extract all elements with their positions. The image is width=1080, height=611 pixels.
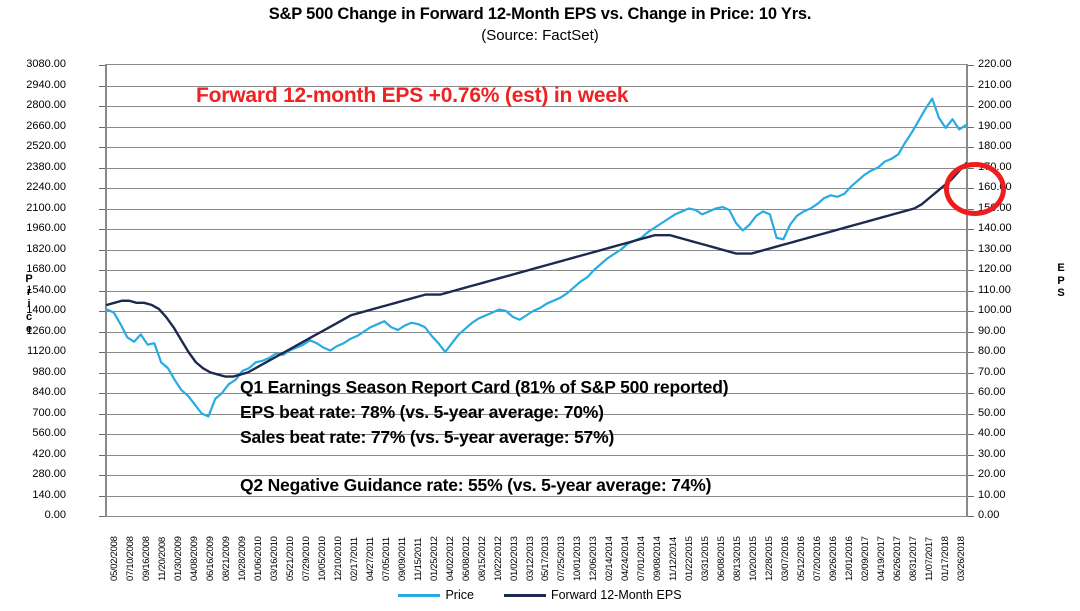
legend-item[interactable]: Forward 12-Month EPS	[504, 588, 682, 602]
y-axis-left-tick-label: 1680.00	[26, 264, 66, 275]
legend-label: Forward 12-Month EPS	[551, 588, 682, 602]
y-axis-right-tick-label: 70.00	[978, 367, 1006, 378]
y-axis-left-tick-label: 2940.00	[26, 80, 66, 91]
y-axis-right-tick-mark	[968, 229, 974, 230]
y-axis-right-tick-label: 10.00	[978, 490, 1006, 501]
y-axis-left-tick-label: 2660.00	[26, 121, 66, 132]
plot-area	[105, 64, 968, 517]
x-axis-tick-label: 09/16/2008	[141, 519, 152, 581]
y-axis-title-right: EPS	[1054, 262, 1068, 300]
annotation-red-headline: Forward 12-month EPS +0.76% (est) in wee…	[196, 84, 628, 108]
x-axis-tick-label: 08/31/2017	[908, 519, 919, 581]
y-axis-right-tick-label: 90.00	[978, 326, 1006, 337]
y-axis-right-tick-mark	[968, 393, 974, 394]
y-axis-right-tick-mark	[968, 352, 974, 353]
x-axis-tick-label: 12/01/2016	[844, 519, 855, 581]
y-axis-right-tick-label: 110.00	[978, 285, 1011, 296]
x-axis-tick-label: 08/21/2009	[221, 519, 232, 581]
y-axis-right-tick-label: 20.00	[978, 469, 1006, 480]
annotation-report-card: Q1 Earnings Season Report Card (81% of S…	[240, 377, 728, 398]
x-axis-tick-label: 07/29/2010	[301, 519, 312, 581]
y-axis-left-tick-label: 3080.00	[26, 59, 66, 70]
x-axis-tick-label: 03/26/2018	[956, 519, 967, 581]
x-axis-tick-label: 04/27/2011	[365, 519, 376, 581]
x-axis-ticks: 05/02/200807/10/200809/16/200811/20/2008…	[105, 519, 968, 583]
x-axis-tick-label: 01/25/2012	[429, 519, 440, 581]
y-axis-right-tick-mark	[968, 270, 974, 271]
x-axis-tick-label: 12/10/2010	[333, 519, 344, 581]
x-axis-tick-label: 09/09/2011	[397, 519, 408, 581]
y-axis-left-tick-label: 2800.00	[26, 100, 66, 111]
x-axis-tick-label: 09/26/2016	[828, 519, 839, 581]
y-axis-right-tick-mark	[968, 455, 974, 456]
x-axis-tick-label: 02/17/2011	[349, 519, 360, 581]
x-axis-tick-label: 10/22/2012	[493, 519, 504, 581]
x-axis-tick-label: 12/28/2015	[764, 519, 775, 581]
x-axis-tick-label: 05/02/2008	[109, 519, 120, 581]
y-axis-right-tick-label: 210.00	[978, 80, 1012, 91]
y-axis-right-tick-label: 140.00	[978, 223, 1012, 234]
y-axis-left-tick-label: 700.00	[32, 408, 66, 419]
y-axis-right-tick-label: 100.00	[978, 305, 1012, 316]
y-axis-right-tick-mark	[968, 434, 974, 435]
x-axis-tick-label: 03/31/2015	[700, 519, 711, 581]
y-axis-right-tick-label: 220.00	[978, 59, 1012, 70]
highlight-circle-icon	[944, 162, 1006, 216]
legend-swatch-icon	[504, 594, 546, 597]
x-axis-tick-label: 01/06/2010	[253, 519, 264, 581]
y-axis-left-tick-label: 2380.00	[26, 162, 66, 173]
y-axis-right-tick-label: 120.00	[978, 264, 1012, 275]
y-axis-left-tick-label: 420.00	[32, 449, 66, 460]
x-axis-tick-label: 10/01/2013	[572, 519, 583, 581]
x-axis-tick-label: 09/08/2014	[652, 519, 663, 581]
data-series-layer	[107, 65, 966, 516]
axis-title-char: E	[1054, 262, 1068, 275]
annotation-negative-guidance-rate: Q2 Negative Guidance rate: 55% (vs. 5-ye…	[240, 475, 711, 496]
x-axis-tick-label: 06/08/2012	[461, 519, 472, 581]
y-axis-right-tick-mark	[968, 127, 974, 128]
y-axis-right-tick-mark	[968, 250, 974, 251]
y-axis-left-tick-label: 2240.00	[26, 182, 66, 193]
y-axis-right-tick-mark	[968, 86, 974, 87]
x-axis-tick-label: 11/20/2008	[157, 519, 168, 581]
y-axis-right-tick-mark	[968, 106, 974, 107]
y-axis-left-tick-label: 560.00	[32, 428, 66, 439]
y-axis-right-tick-mark	[968, 65, 974, 66]
x-axis-tick-label: 08/15/2012	[477, 519, 488, 581]
x-axis-tick-label: 08/13/2015	[732, 519, 743, 581]
x-axis-tick-label: 01/02/2013	[509, 519, 520, 581]
x-axis-tick-label: 06/26/2017	[892, 519, 903, 581]
x-axis-tick-label: 06/16/2009	[205, 519, 216, 581]
y-axis-left-tick-label: 1960.00	[26, 223, 66, 234]
y-axis-right-tick-mark	[968, 311, 974, 312]
x-axis-tick-label: 11/12/2014	[668, 519, 679, 581]
x-axis-tick-label: 11/07/2017	[924, 519, 935, 581]
y-axis-right-tick-label: 200.00	[978, 100, 1012, 111]
series-line-forward-12-month-eps	[107, 163, 966, 376]
x-axis-tick-label: 01/22/2015	[684, 519, 695, 581]
legend-swatch-icon	[398, 594, 440, 597]
x-axis-tick-label: 07/10/2008	[125, 519, 136, 581]
x-axis-tick-label: 04/02/2012	[445, 519, 456, 581]
y-axis-right-tick-mark	[968, 414, 974, 415]
y-axis-left-tick-label: 280.00	[32, 469, 66, 480]
y-axis-right-tick-label: 30.00	[978, 449, 1006, 460]
y-axis-right-tick-label: 190.00	[978, 121, 1012, 132]
y-axis-left-tick-label: 980.00	[32, 367, 66, 378]
chart-header: S&P 500 Change in Forward 12-Month EPS v…	[0, 4, 1080, 46]
chart-legend: PriceForward 12-Month EPS	[0, 588, 1080, 602]
y-axis-right-tick-label: 130.00	[978, 244, 1012, 255]
y-axis-right-tick-mark	[968, 373, 974, 374]
y-axis-left-tick-label: 0.00	[45, 510, 66, 521]
x-axis-tick-label: 02/09/2017	[860, 519, 871, 581]
y-axis-right-tick-mark	[968, 332, 974, 333]
y-axis-right-tick-label: 60.00	[978, 387, 1006, 398]
x-axis-tick-label: 04/24/2014	[620, 519, 631, 581]
y-axis-right-tick-mark	[968, 475, 974, 476]
y-axis-left-tick-label: 1260.00	[26, 326, 66, 337]
x-axis-tick-label: 07/20/2016	[812, 519, 823, 581]
page-title: S&P 500 Change in Forward 12-Month EPS v…	[0, 4, 1080, 24]
x-axis-tick-label: 04/19/2017	[876, 519, 887, 581]
y-axis-left-tick-label: 2520.00	[26, 141, 66, 152]
y-axis-left-tick-label: 1400.00	[26, 305, 66, 316]
series-line-price	[107, 99, 966, 417]
x-axis-tick-label: 02/14/2014	[604, 519, 615, 581]
annotation-sales-beat-rate: Sales beat rate: 77% (vs. 5-year average…	[240, 427, 614, 448]
x-axis-tick-label: 07/01/2014	[636, 519, 647, 581]
y-axis-left-tick-label: 1820.00	[26, 244, 66, 255]
y-axis-right-tick-mark	[968, 496, 974, 497]
x-axis-tick-label: 07/05/2011	[381, 519, 392, 581]
y-axis-right-tick-mark	[968, 516, 974, 517]
y-axis-right-tick-mark	[968, 147, 974, 148]
x-axis-tick-label: 03/12/2013	[525, 519, 536, 581]
y-axis-right-tick-mark	[968, 291, 974, 292]
chart-subtitle: (Source: FactSet)	[0, 26, 1080, 46]
x-axis-tick-label: 11/15/2011	[413, 519, 424, 581]
x-axis-tick-label: 10/20/2015	[748, 519, 759, 581]
x-axis-tick-label: 05/17/2013	[540, 519, 551, 581]
x-axis-tick-label: 10/28/2009	[237, 519, 248, 581]
legend-label: Price	[445, 588, 473, 602]
legend-item[interactable]: Price	[398, 588, 473, 602]
axis-title-char: P	[1054, 275, 1068, 288]
y-axis-left-tick-label: 1120.00	[27, 346, 66, 357]
y-axis-left-tick-label: 140.00	[32, 490, 66, 501]
y-axis-left-tick-label: 840.00	[32, 387, 66, 398]
y-axis-right-tick-label: 40.00	[978, 428, 1006, 439]
x-axis-tick-label: 07/25/2013	[556, 519, 567, 581]
x-axis-tick-label: 06/08/2015	[716, 519, 727, 581]
y-axis-right-tick-label: 50.00	[978, 408, 1006, 419]
x-axis-tick-label: 01/17/2018	[940, 519, 951, 581]
axis-title-char: S	[1054, 287, 1068, 300]
annotation-eps-beat-rate: EPS beat rate: 78% (vs. 5-year average: …	[240, 402, 604, 423]
y-axis-right-tick-label: 0.00	[978, 510, 999, 521]
x-axis-tick-label: 01/30/2009	[173, 519, 184, 581]
y-axis-left-tick-label: 1540.00	[26, 285, 66, 296]
x-axis-tick-label: 12/06/2013	[588, 519, 599, 581]
y-axis-right-tick-label: 180.00	[978, 141, 1012, 152]
x-axis-tick-label: 10/05/2010	[317, 519, 328, 581]
x-axis-tick-label: 03/16/2010	[269, 519, 280, 581]
x-axis-tick-label: 03/07/2016	[780, 519, 791, 581]
x-axis-tick-label: 05/12/2016	[796, 519, 807, 581]
x-axis-tick-label: 05/21/2010	[285, 519, 296, 581]
y-axis-right-tick-label: 80.00	[978, 346, 1006, 357]
x-axis-tick-label: 04/08/2009	[189, 519, 200, 581]
y-axis-left-tick-label: 2100.00	[26, 203, 66, 214]
